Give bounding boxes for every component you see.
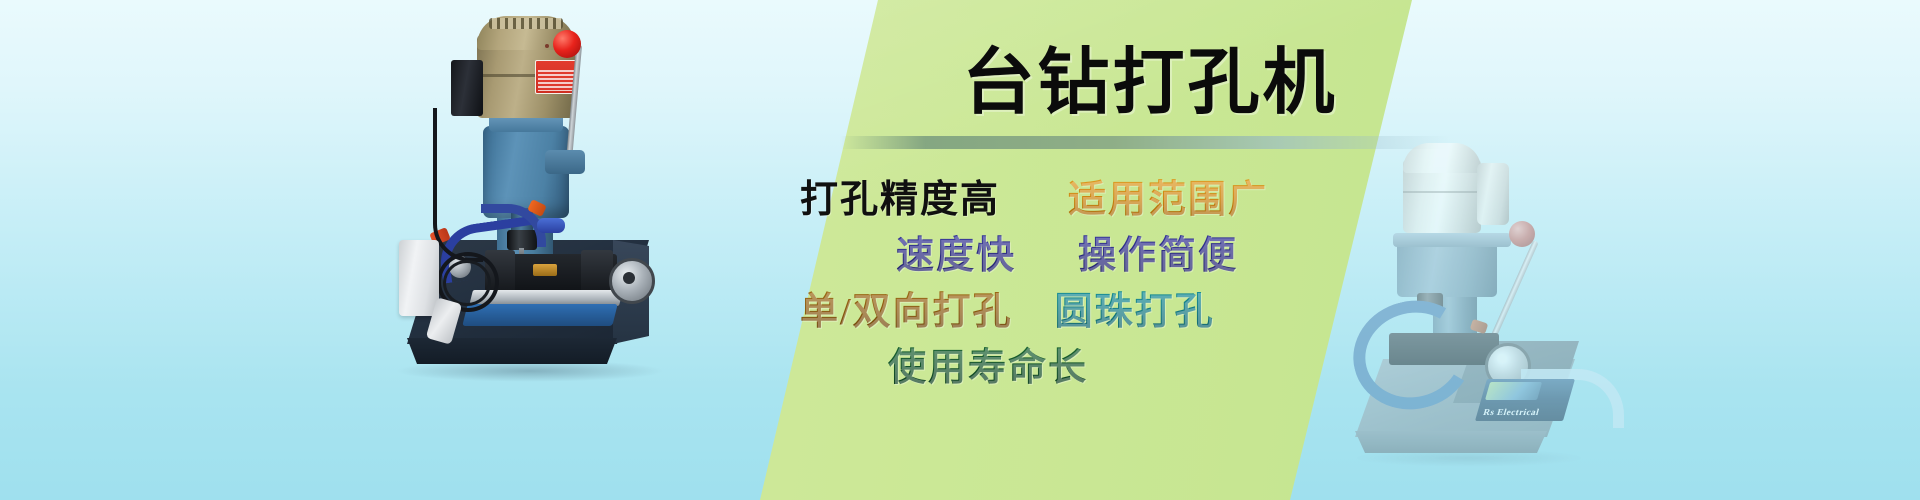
feature-item-long-service-life: 使用寿命长: [888, 336, 1088, 391]
feature-item-easy-operation: 操作简便: [1078, 224, 1238, 279]
work-table-blue: [462, 304, 617, 326]
feature-item-ball-drilling: 圆珠打孔: [1055, 280, 1215, 335]
feature-item-wide-application: 适用范围广: [1068, 168, 1268, 223]
feature-item-drilling-accuracy: 打孔精度高: [800, 168, 1000, 223]
product-image-bench-drill-side: Rs Electrical: [1345, 135, 1605, 465]
product-image-bench-drill-front: [385, 8, 685, 378]
machine-gearbox: [1397, 239, 1497, 297]
machine-mount-plate: [1393, 233, 1511, 247]
feed-lever-ball: [1509, 221, 1535, 247]
hand-wheel-hub: [623, 272, 635, 284]
power-cable-upper: [433, 108, 483, 262]
motor-capacitor: [1477, 163, 1509, 225]
feature-item-fast-speed: 速度快: [896, 224, 1016, 279]
product-banner: 台钻打孔机 打孔精度高 适用范围广 速度快 操作简便 单/双向打孔 圆珠打孔 使…: [0, 0, 1920, 500]
coolant-hose-node: [537, 218, 565, 233]
product-carton: Rs Electrical: [1475, 379, 1575, 421]
motor-vent-slots: [489, 18, 563, 29]
power-cable-coil-inner: [443, 260, 491, 306]
motor-spec-label: [535, 60, 577, 94]
vise-jaw-right: [581, 250, 613, 292]
carton-artwork: [1485, 382, 1542, 400]
feature-item-single-double-drilling: 单/双向打孔: [800, 280, 1013, 335]
motor-seam-ring: [1403, 191, 1481, 193]
switch-box: [399, 240, 439, 316]
carton-brand-text: Rs Electrical: [1482, 407, 1541, 417]
motor-screw: [545, 44, 549, 48]
motor-cap: [1403, 143, 1481, 173]
vise-brass-workpiece: [533, 264, 557, 276]
machine-base-front: [1355, 431, 1549, 453]
banner-headline: 台钻打孔机: [830, 42, 1470, 124]
feed-lever-ball: [553, 30, 581, 58]
machine-base-front: [407, 338, 619, 364]
feed-lever-hub: [545, 150, 585, 174]
